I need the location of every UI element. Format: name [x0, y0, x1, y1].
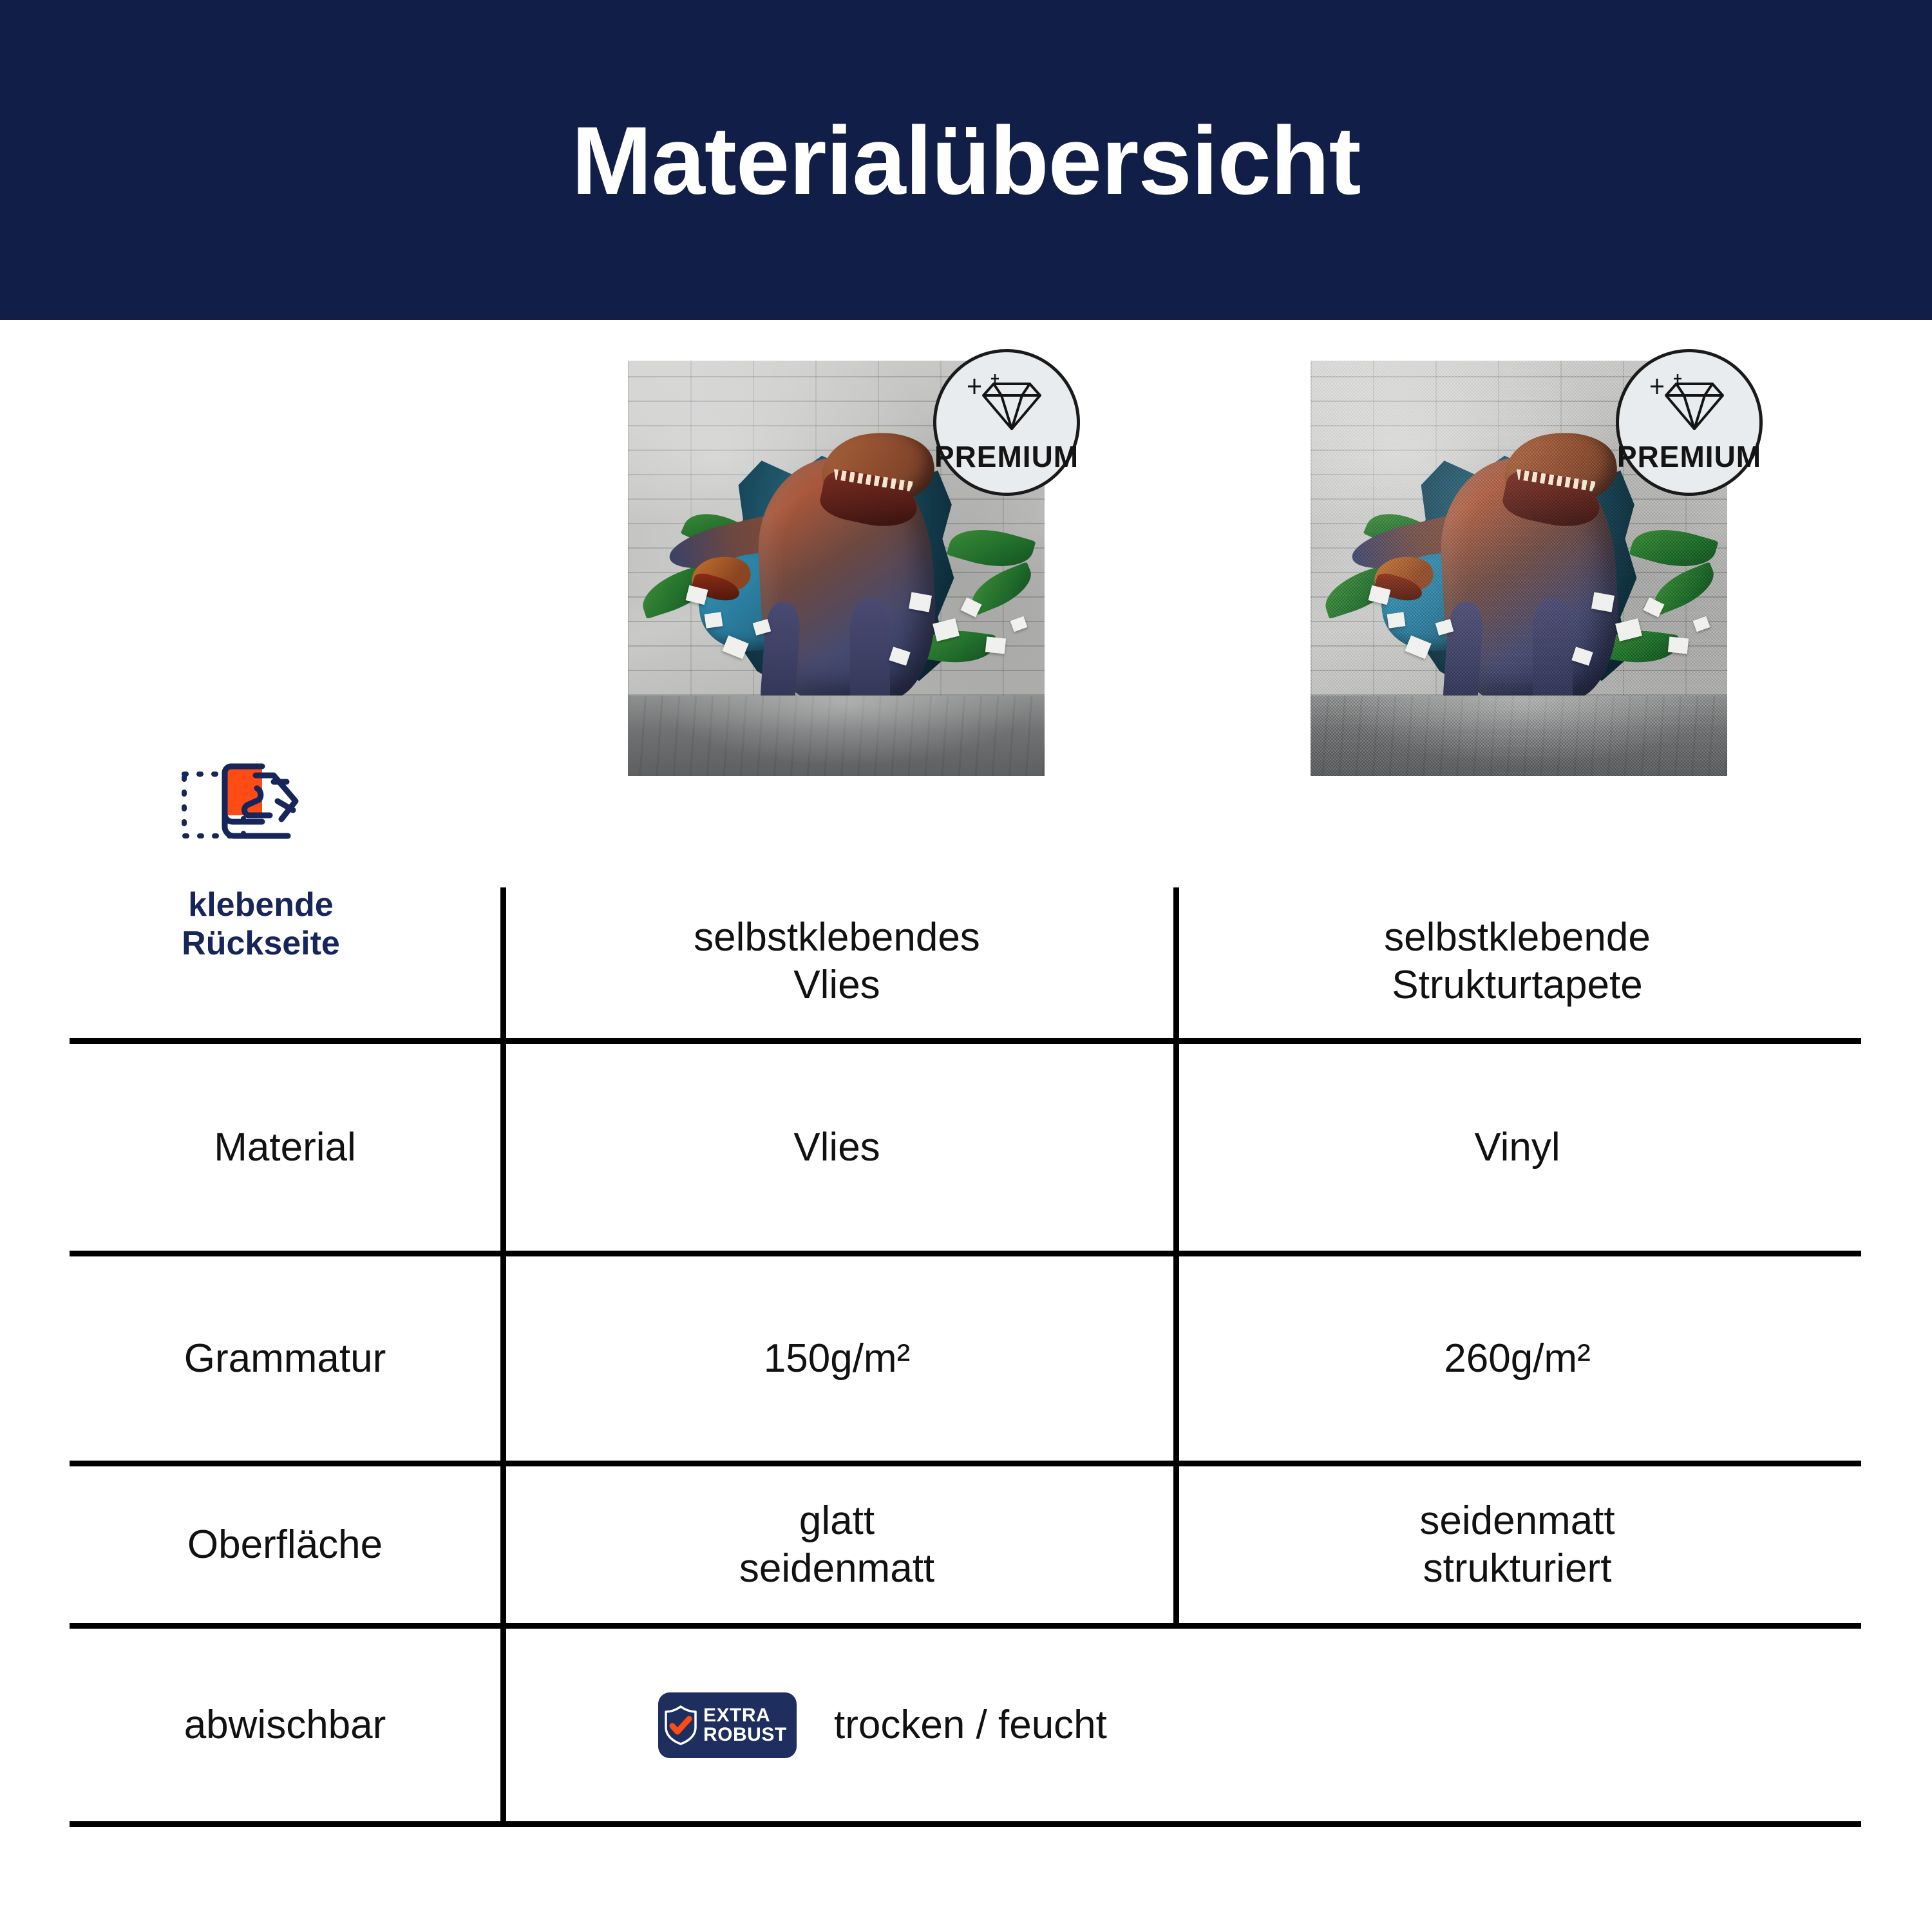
concrete-floor [1311, 696, 1727, 776]
product-preview-strukturtapete[interactable]: PREMIUM [1311, 361, 1727, 776]
feature-label: klebende Rückseite [182, 885, 340, 963]
diamond-icon [968, 374, 1045, 438]
table-cell-r1c1: Vlies [500, 1044, 1173, 1251]
product-preview-vlies[interactable]: PREMIUM [628, 361, 1045, 776]
r2c1: 150g/m² [764, 1335, 910, 1382]
table-row-label-abwischbar: abwischbar [70, 1629, 500, 1821]
premium-badge: PREMIUM [933, 349, 1080, 496]
premium-label: PREMIUM [1617, 442, 1761, 471]
table-cell-r3c2: seidenmatt strukturiert [1173, 1466, 1861, 1623]
page-header: Materialübersicht [0, 0, 1932, 320]
table-row-label-grammatur: Grammatur [70, 1256, 500, 1461]
feature-adhesive-backing: klebende Rückseite [93, 759, 428, 963]
r3c1-line1: glatt [739, 1497, 934, 1544]
r0c2-line2: Strukturtapete [1384, 961, 1651, 1009]
r4-label: abwischbar [184, 1701, 386, 1748]
rubble-chunk [705, 612, 723, 628]
table-cell-r4-merged: EXTRA ROBUST trocken / feucht [500, 1629, 1861, 1821]
rubble-chunk [1387, 612, 1406, 628]
row-rule [70, 1461, 1861, 1466]
concrete-floor [628, 696, 1045, 776]
table-cell-r3c1: glatt seidenmatt [500, 1466, 1173, 1623]
r0c1-line2: Vlies [694, 961, 980, 1009]
feature-label-line2: Rückseite [182, 924, 340, 963]
row-rule [70, 1623, 1861, 1629]
rubble-chunk [1668, 636, 1689, 654]
table-cell-r2c2: 260g/m² [1173, 1256, 1861, 1461]
rubble-chunk [909, 592, 932, 612]
r1c1: Vlies [793, 1124, 880, 1171]
rubble-chunk [1591, 592, 1615, 612]
row-rule [70, 1251, 1861, 1256]
r2c2: 260g/m² [1444, 1335, 1590, 1382]
robust-line1: EXTRA [703, 1706, 787, 1725]
row-rule [70, 1038, 1861, 1044]
rubble-chunk [985, 636, 1006, 654]
premium-badge: PREMIUM [1616, 349, 1763, 496]
extra-robust-badge: EXTRA ROBUST [658, 1692, 797, 1758]
table-cell-r0c1: selbstklebendes Vlies [500, 884, 1173, 1038]
r3c2-line2: strukturiert [1419, 1545, 1615, 1592]
page-title: Materialübersicht [571, 112, 1360, 209]
row-rule [70, 1821, 1861, 1827]
r1c2: Vinyl [1474, 1124, 1560, 1171]
robust-line2: ROBUST [703, 1725, 787, 1745]
extra-robust-text: EXTRA ROBUST [703, 1706, 787, 1745]
table-cell-r1c2: Vinyl [1173, 1044, 1861, 1251]
table-row-label-material: Material [70, 1044, 500, 1251]
feature-label-line1: klebende [182, 885, 340, 924]
r0c2-line1: selbstklebende [1384, 914, 1651, 961]
r0c1-line1: selbstklebendes [694, 914, 980, 961]
r3c1-line2: seidenmatt [739, 1545, 934, 1592]
r3c2-line1: seidenmatt [1419, 1497, 1615, 1544]
r2-label: Grammatur [184, 1335, 386, 1382]
adhesive-backing-icon [177, 759, 345, 871]
diamond-icon [1651, 374, 1728, 438]
premium-label: PREMIUM [934, 442, 1079, 471]
table-row-label-oberflaeche: Oberfläche [70, 1466, 500, 1623]
r1-label: Material [214, 1124, 356, 1171]
r3-label: Oberfläche [187, 1521, 383, 1568]
table-cell-r0c2: selbstklebende Strukturtapete [1173, 884, 1861, 1038]
r4-value: trocken / feucht [834, 1701, 1107, 1748]
shield-check-icon [663, 1705, 698, 1745]
table-cell-r2c1: 150g/m² [500, 1256, 1173, 1461]
